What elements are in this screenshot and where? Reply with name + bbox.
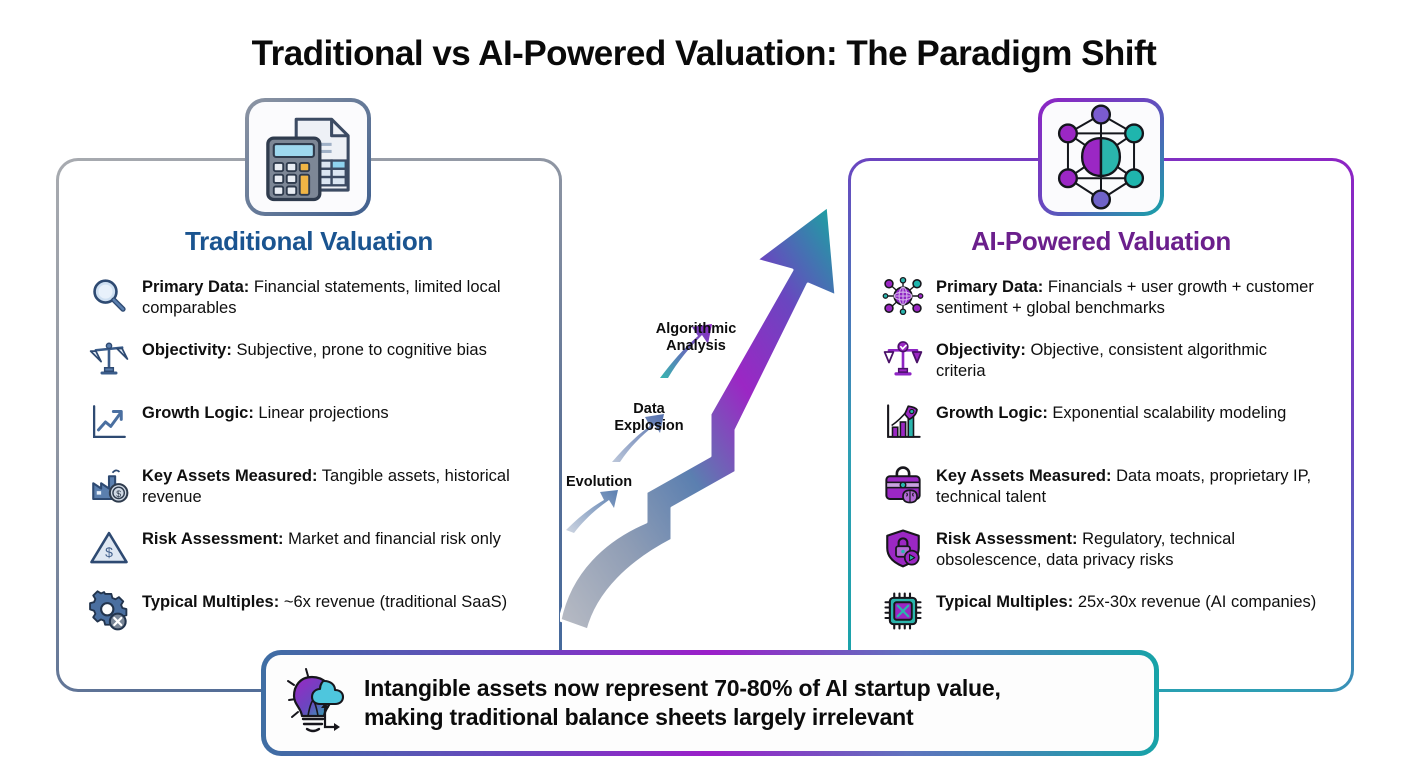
magnifying-glass-icon (86, 273, 132, 319)
list-item-text: Primary Data: Financials + user growth +… (936, 272, 1320, 319)
list-item-text: Risk Assessment: Market and financial ri… (142, 524, 526, 550)
list-item-text: Key Assets Measured: Tangible assets, hi… (142, 461, 526, 508)
ai-feature-list: Primary Data: Financials + user growth +… (880, 272, 1320, 650)
list-item-label: Risk Assessment: (142, 530, 284, 548)
list-item-label: Objectivity: (142, 341, 232, 359)
list-item-text: Objectivity: Subjective, prone to cognit… (142, 335, 526, 361)
banner-surface: Intangible assets now represent 70-80% o… (266, 655, 1154, 751)
balance-scales-check-icon (880, 336, 926, 382)
traditional-feature-list: Primary Data: Financial statements, limi… (86, 272, 526, 650)
briefcase-lock-brain-icon (880, 462, 926, 508)
banner-line-1: Intangible assets now represent 70-80% o… (364, 675, 1001, 701)
list-item: $ Key Assets Measured: Tangible assets, … (86, 461, 526, 508)
list-item-label: Key Assets Measured: (936, 467, 1111, 485)
list-item: Primary Data: Financial statements, limi… (86, 272, 526, 319)
list-item-text: Growth Logic: Exponential scalability mo… (936, 398, 1320, 424)
svg-text:$: $ (116, 489, 121, 499)
rocket-bar-chart-icon (880, 399, 926, 445)
list-item: Key Assets Measured: Data moats, proprie… (880, 461, 1320, 508)
list-item-label: Growth Logic: (142, 404, 254, 422)
list-item-text: Objectivity: Objective, consistent algor… (936, 335, 1320, 382)
balance-scales-icon (86, 336, 132, 382)
list-item-label: Primary Data: (142, 278, 249, 296)
list-item-label: Key Assets Measured: (142, 467, 317, 485)
list-item-label: Risk Assessment: (936, 530, 1078, 548)
list-item: Objectivity: Subjective, prone to cognit… (86, 335, 526, 382)
badge-left-surface (249, 102, 367, 212)
list-item-label: Typical Multiples: (142, 593, 279, 611)
list-item-value: 25x-30x revenue (AI companies) (1078, 593, 1316, 611)
list-item-label: Primary Data: (936, 278, 1043, 296)
line-chart-up-icon (86, 399, 132, 445)
gear-x-icon (86, 588, 132, 634)
list-item: Typical Multiples: ~6x revenue (traditio… (86, 587, 526, 634)
page-title: Traditional vs AI-Powered Valuation: The… (0, 34, 1408, 74)
infographic-canvas: Traditional vs AI-Powered Valuation: The… (0, 0, 1408, 768)
banner-line-2: making traditional balance sheets largel… (364, 704, 913, 730)
list-item-value: ~6x revenue (traditional SaaS) (284, 593, 507, 611)
neural-network-brain-glyph (1042, 98, 1160, 216)
ai-panel-heading: AI-Powered Valuation (848, 226, 1354, 257)
cpu-chip-icon (880, 588, 926, 634)
list-item-value: Market and financial risk only (288, 530, 501, 548)
banner-text: Intangible assets now represent 70-80% o… (364, 674, 1132, 732)
list-item-label: Objectivity: (936, 341, 1026, 359)
list-item-value: Subjective, prone to cognitive bias (236, 341, 486, 359)
list-item: Typical Multiples: 25x-30x revenue (AI c… (880, 587, 1320, 634)
list-item-label: Typical Multiples: (936, 593, 1073, 611)
list-item-text: Primary Data: Financial statements, limi… (142, 272, 526, 319)
stage-label-algorithmic-analysis: Algorithmic Analysis (640, 321, 752, 355)
stage-label-data-explosion: Data Explosion (604, 401, 694, 435)
shield-lock-icon (880, 525, 926, 571)
list-item: Primary Data: Financials + user growth +… (880, 272, 1320, 319)
factory-coin-icon: $ (86, 462, 132, 508)
stage-label-evolution: Evolution (566, 474, 652, 491)
list-item-label: Growth Logic: (936, 404, 1048, 422)
traditional-panel-heading: Traditional Valuation (56, 226, 562, 257)
list-item: $ Risk Assessment: Market and financial … (86, 524, 526, 571)
list-item-text: Typical Multiples: 25x-30x revenue (AI c… (936, 587, 1320, 613)
key-insight-banner: Intangible assets now represent 70-80% o… (261, 650, 1159, 756)
neural-network-brain-icon (1038, 98, 1164, 216)
network-globe-icon (880, 273, 926, 319)
list-item-text: Typical Multiples: ~6x revenue (traditio… (142, 587, 526, 613)
list-item-text: Risk Assessment: Regulatory, technical o… (936, 524, 1320, 571)
list-item: Risk Assessment: Regulatory, technical o… (880, 524, 1320, 571)
list-item: Growth Logic: Exponential scalability mo… (880, 398, 1320, 445)
badge-right-surface (1042, 102, 1160, 212)
calculator-document-glyph (249, 98, 367, 216)
warning-triangle-dollar-icon: $ (86, 525, 132, 571)
list-item-text: Key Assets Measured: Data moats, proprie… (936, 461, 1320, 508)
calculator-document-icon (245, 98, 371, 216)
list-item: Growth Logic: Linear projections (86, 398, 526, 445)
lightbulb-cloud-icon (284, 667, 350, 739)
list-item-text: Growth Logic: Linear projections (142, 398, 526, 424)
list-item: Objectivity: Objective, consistent algor… (880, 335, 1320, 382)
list-item-value: Exponential scalability modeling (1052, 404, 1286, 422)
list-item-value: Linear projections (258, 404, 388, 422)
svg-text:$: $ (105, 544, 113, 560)
